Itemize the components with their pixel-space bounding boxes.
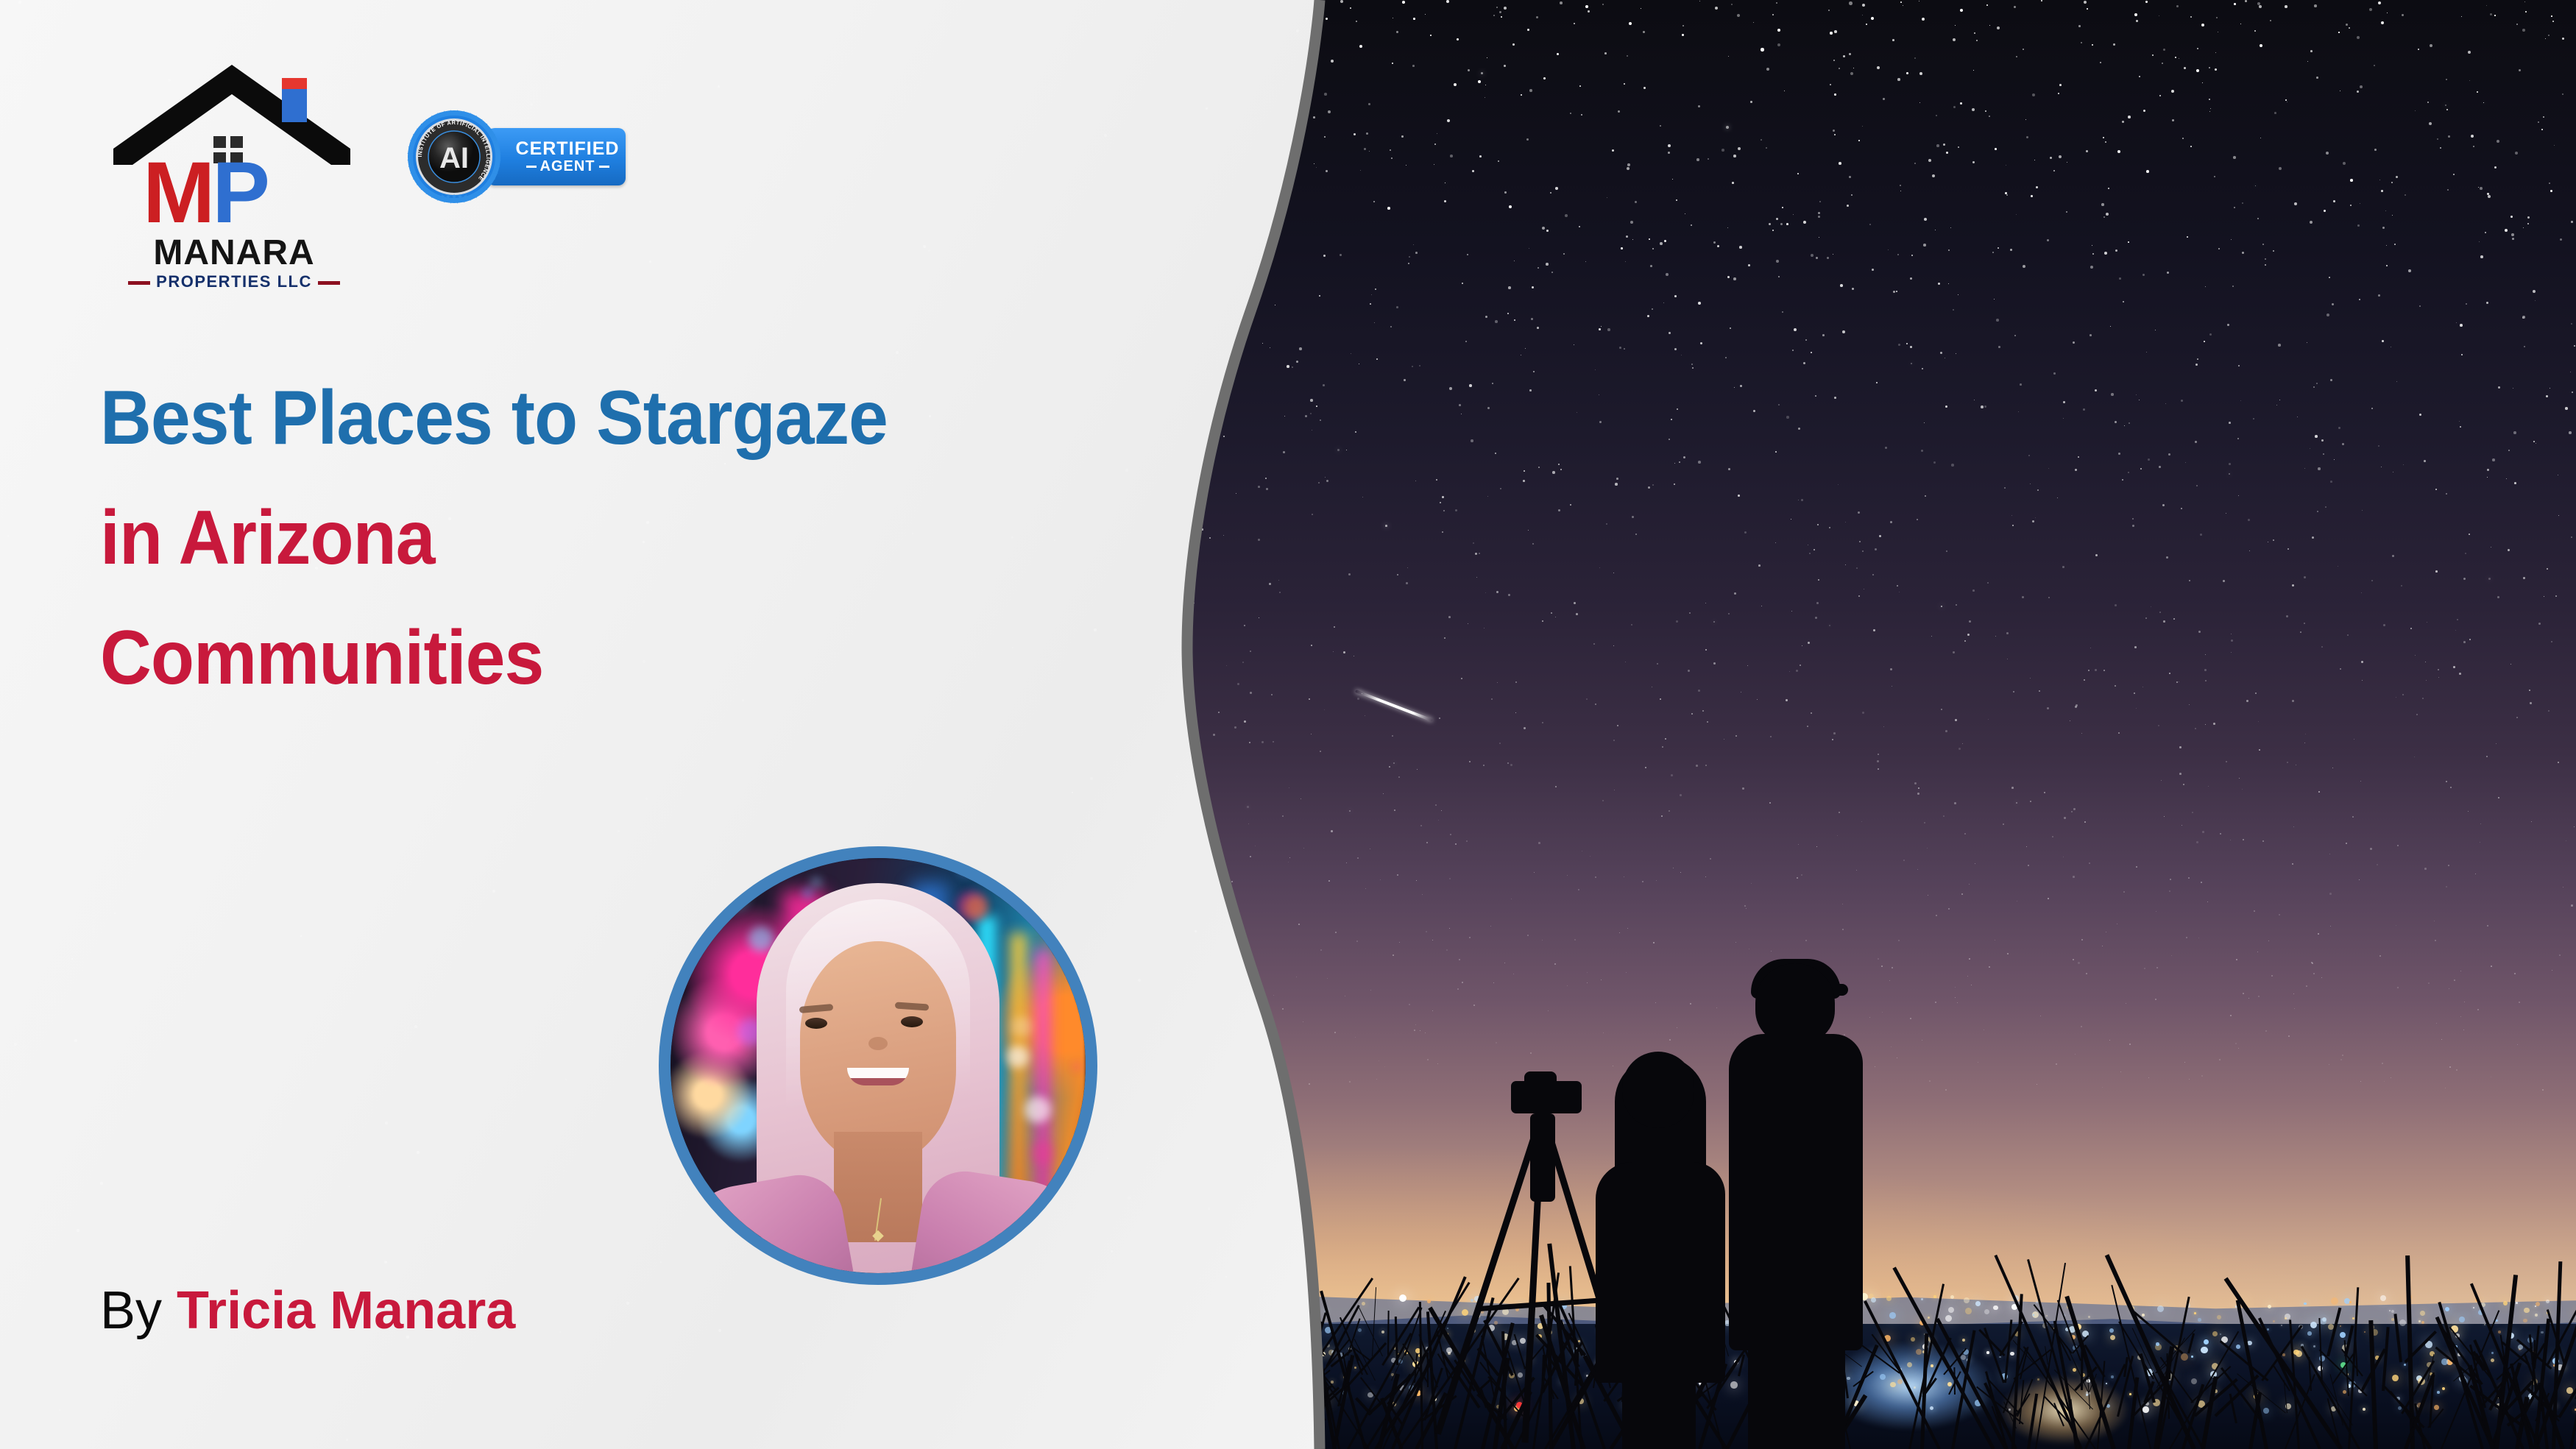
silhouette-figure-man <box>1726 963 1866 1449</box>
byline-prefix: By <box>100 1281 162 1340</box>
silhouette-figure-woman <box>1590 1052 1730 1449</box>
page-title: Best Places to Stargaze in Arizona Commu… <box>100 358 1167 718</box>
monogram-m: M <box>143 144 212 241</box>
manara-properties-logo[interactable]: MP MANARA PROPERTIES LLC <box>110 46 353 274</box>
social-media-graphic: MP MANARA PROPERTIES LLC CERTIFIED AGENT <box>0 0 2576 1449</box>
logo-company-subtitle: PROPERTIES LLC <box>116 274 352 290</box>
logo-company-name: MANARA <box>116 235 352 271</box>
camera-lens <box>1524 1071 1557 1086</box>
author-avatar[interactable] <box>659 846 1097 1285</box>
svg-text:★★★★★: ★★★★★ <box>439 193 469 200</box>
chimney-icon <box>282 78 307 122</box>
avatar-neck <box>834 1132 922 1242</box>
badge-certified-label: CERTIFIED <box>516 139 620 158</box>
monogram-p: P <box>212 144 267 241</box>
byline-author-name: Tricia Manara <box>177 1281 515 1340</box>
title-line-2: in Arizona <box>100 478 1093 598</box>
ai-certified-agent-badge[interactable]: CERTIFIED AGENT AI <box>406 109 627 205</box>
title-line-1: Best Places to Stargaze <box>100 358 1093 478</box>
avatar-smile <box>847 1068 909 1085</box>
avatar-nose <box>868 1037 888 1050</box>
neon-strip-amber <box>1011 933 1027 1207</box>
badge-agent-label: AGENT <box>523 158 613 174</box>
logo-subtitle-text: PROPERTIES LLC <box>156 272 312 291</box>
badge-seal-icon: AI KREM INSTITUTE OF ARTIFICIAL INTELLIG… <box>406 109 502 205</box>
svg-text:AI: AI <box>439 142 469 174</box>
title-line-3: Communities <box>100 598 1093 718</box>
hanging-bag <box>1530 1113 1555 1202</box>
certified-agent-banner: CERTIFIED AGENT <box>487 128 626 185</box>
logo-monogram: MP <box>143 156 327 230</box>
byline: By Tricia Manara <box>100 1282 515 1339</box>
